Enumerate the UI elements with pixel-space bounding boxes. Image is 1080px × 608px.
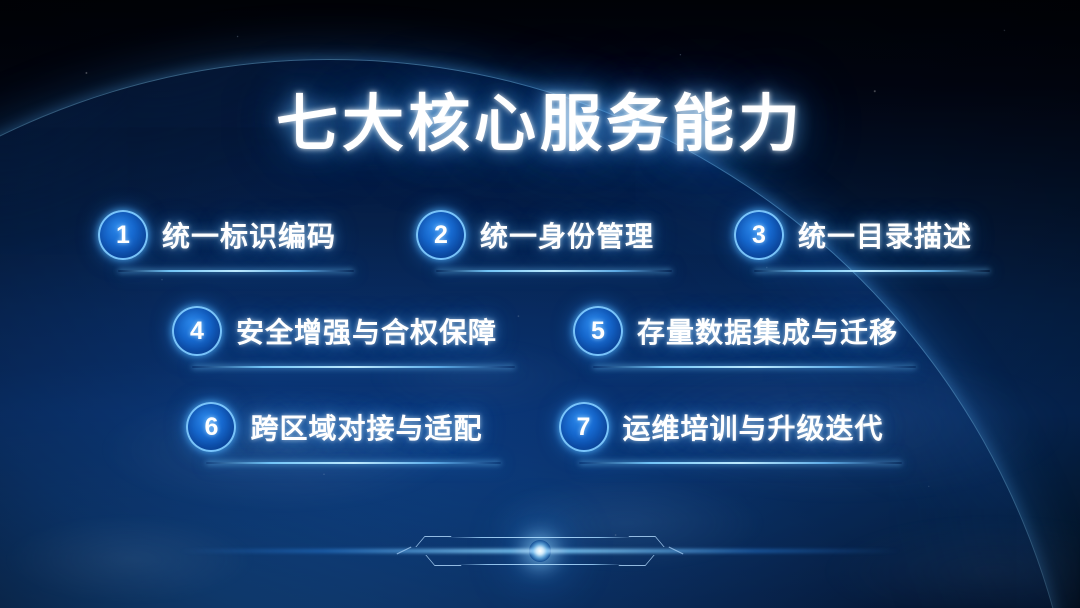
capability-label: 运维培训与升级迭代 [623, 407, 884, 447]
chevron-top-right-icon [628, 536, 664, 547]
chevron-top-left-icon [415, 536, 451, 547]
capability-item-3[interactable]: 3 统一目录描述 [730, 206, 986, 274]
capability-label: 统一目录描述 [798, 215, 972, 255]
capability-label: 存量数据集成与迁移 [637, 311, 898, 351]
ornament-top-line [448, 537, 632, 538]
number-badge-icon: 3 [734, 210, 784, 260]
capability-label: 安全增强与合权保障 [236, 311, 497, 351]
slide-canvas: 七大核心服务能力 1 统一标识编码 2 统一身份管理 3 统一目录描述 4 安全… [0, 0, 1080, 608]
chevron-bottom-left-icon [425, 555, 461, 566]
capability-item-5[interactable]: 5 存量数据集成与迁移 [569, 302, 912, 370]
capability-item-6[interactable]: 6 跨区域对接与适配 [182, 398, 496, 466]
capability-item-7[interactable]: 7 运维培训与升级迭代 [555, 398, 898, 466]
capability-label: 统一标识编码 [162, 215, 336, 255]
page-title: 七大核心服务能力 [0, 92, 1080, 159]
number-badge-icon: 1 [98, 210, 148, 260]
number-badge-icon: 7 [559, 402, 609, 452]
capability-label: 跨区域对接与适配 [250, 407, 482, 447]
number-badge-icon: 2 [416, 210, 466, 260]
center-flare-icon [529, 540, 551, 562]
capability-item-1[interactable]: 1 统一标识编码 [94, 206, 350, 274]
number-badge-icon: 6 [186, 402, 236, 452]
hud-divider-ornament [390, 524, 690, 578]
capability-row-1: 1 统一标识编码 2 统一身份管理 3 统一目录描述 [0, 206, 1080, 274]
number-badge-icon: 5 [573, 306, 623, 356]
capability-label: 统一身份管理 [480, 215, 654, 255]
capability-item-2[interactable]: 2 统一身份管理 [412, 206, 668, 274]
capability-row-3: 6 跨区域对接与适配 7 运维培训与升级迭代 [0, 398, 1080, 466]
ornament-bottom-line [458, 564, 622, 565]
capability-item-4[interactable]: 4 安全增强与合权保障 [168, 302, 511, 370]
capability-list: 1 统一标识编码 2 统一身份管理 3 统一目录描述 4 安全增强与合权保障 5… [0, 206, 1080, 466]
number-badge-icon: 4 [172, 306, 222, 356]
chevron-bottom-right-icon [618, 555, 654, 566]
capability-row-2: 4 安全增强与合权保障 5 存量数据集成与迁移 [0, 302, 1080, 370]
